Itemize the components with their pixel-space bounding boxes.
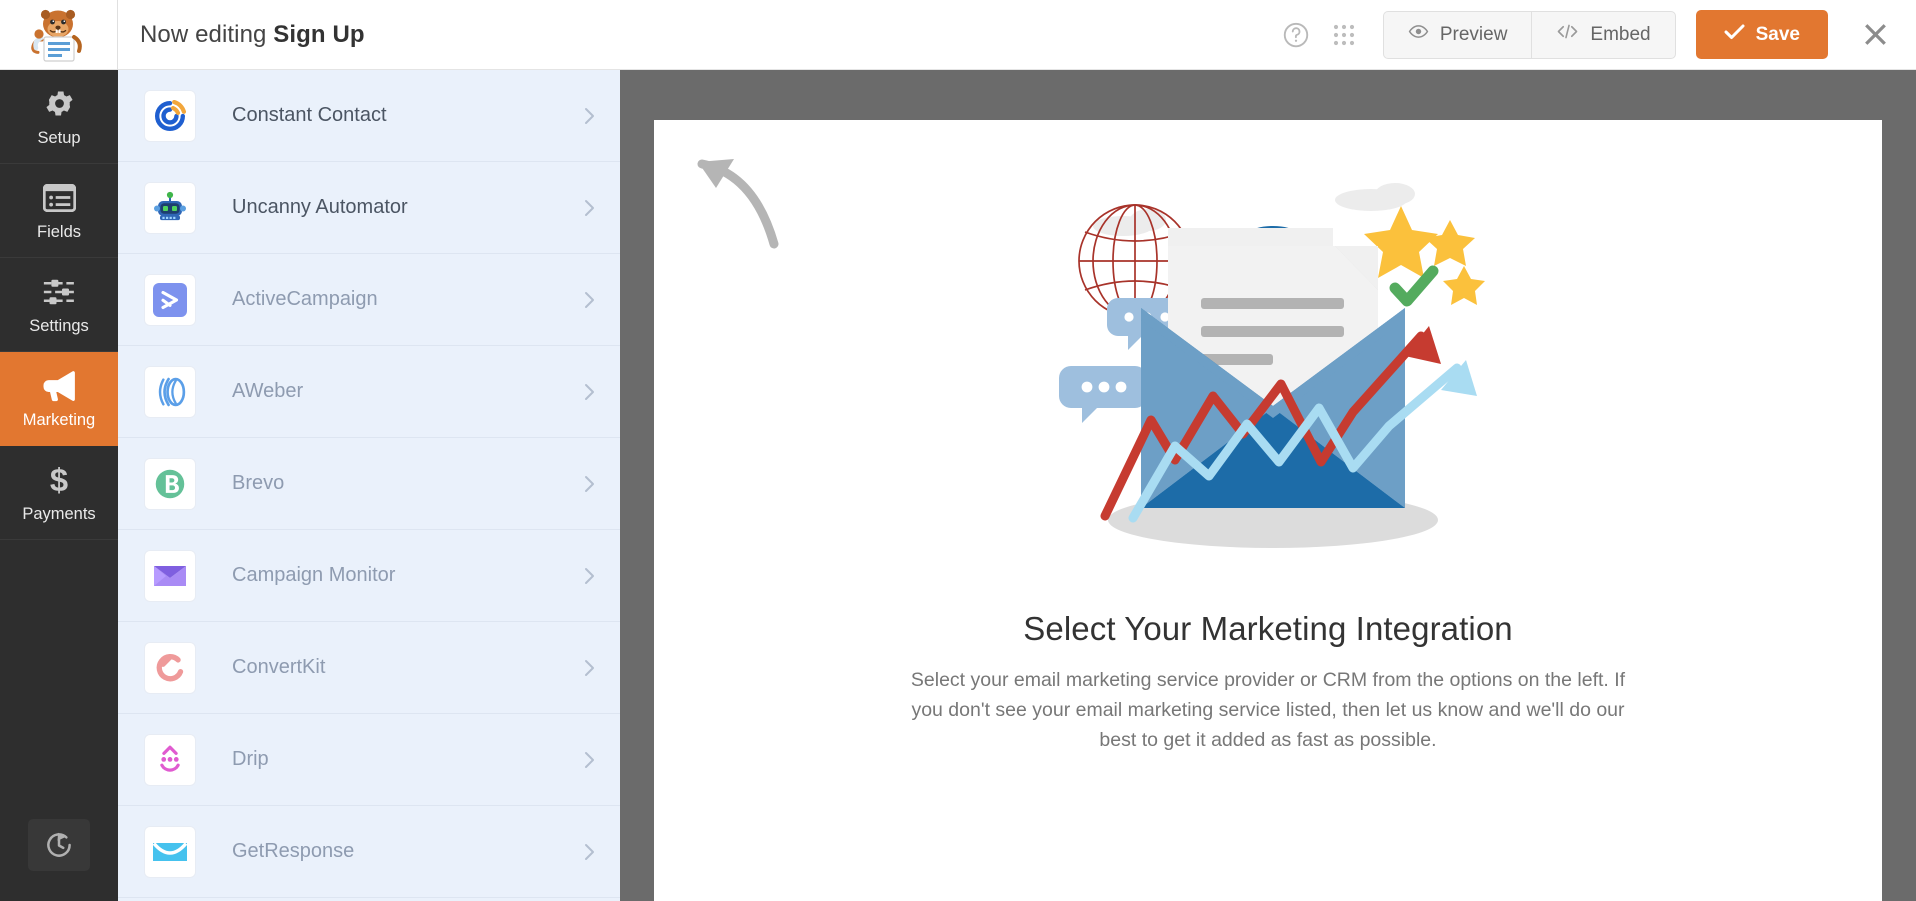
provider-row-getresponse[interactable]: GetResponse — [118, 806, 620, 898]
chevron-right-icon — [583, 382, 596, 402]
uncanny-automator-logo — [144, 182, 196, 234]
wpforms-logo — [0, 0, 118, 70]
sidebar-item-setup[interactable]: Setup — [0, 70, 118, 164]
revisions-button[interactable] — [28, 819, 90, 871]
save-button-label: Save — [1756, 24, 1800, 46]
card-title: Select Your Marketing Integration — [654, 610, 1882, 648]
provider-name: ActiveCampaign — [232, 288, 378, 311]
check-icon — [1724, 23, 1745, 46]
megaphone-icon — [41, 368, 78, 404]
provider-name: Constant Contact — [232, 104, 387, 127]
sliders-icon — [42, 274, 77, 310]
revision-history-icon — [44, 830, 74, 860]
aweber-logo — [144, 366, 196, 418]
provider-row-brevo[interactable]: Brevo — [118, 438, 620, 530]
sidebar-item-payments[interactable]: $ Payments — [0, 446, 118, 540]
chevron-right-icon — [583, 750, 596, 770]
sidebar-item-settings-label: Settings — [29, 317, 89, 336]
code-brackets-icon — [1556, 22, 1579, 47]
save-button[interactable]: Save — [1696, 10, 1828, 59]
chevron-right-icon — [583, 474, 596, 494]
sidebar-item-marketing[interactable]: Marketing — [0, 352, 118, 446]
provider-row-drip[interactable]: Drip — [118, 714, 620, 806]
provider-name: Brevo — [232, 472, 284, 495]
embed-button[interactable]: Embed — [1531, 11, 1675, 59]
preview-button[interactable]: Preview — [1383, 11, 1532, 59]
eye-icon — [1408, 21, 1429, 48]
dollar-icon: $ — [47, 462, 71, 498]
preview-embed-group: Preview Embed — [1383, 11, 1676, 59]
curved-arrow-left-icon — [676, 140, 796, 255]
provider-row-convertkit[interactable]: ConvertKit — [118, 622, 620, 714]
provider-row-campaign-monitor[interactable]: Campaign Monitor — [118, 530, 620, 622]
provider-row-constant-contact[interactable]: Constant Contact — [118, 70, 620, 162]
chevron-right-icon — [583, 290, 596, 310]
sidebar-item-setup-label: Setup — [37, 129, 80, 148]
question-circle-icon[interactable] — [1281, 20, 1311, 50]
provider-name: Drip — [232, 748, 269, 771]
chevron-right-icon — [583, 658, 596, 678]
sidebar-item-payments-label: Payments — [22, 505, 95, 524]
close-builder-button[interactable] — [1834, 0, 1916, 70]
convertkit-logo — [144, 642, 196, 694]
provider-name: AWeber — [232, 380, 303, 403]
drip-logo — [144, 734, 196, 786]
getresponse-logo — [144, 826, 196, 878]
embed-button-label: Embed — [1590, 24, 1650, 46]
marketing-providers-list[interactable]: Constant Contact — [118, 70, 620, 901]
marketing-intro-card: Select Your Marketing Integration Select… — [654, 120, 1882, 901]
builder-sidebar: Setup Fields — [0, 70, 118, 901]
brevo-logo — [144, 458, 196, 510]
sidebar-item-fields[interactable]: Fields — [0, 164, 118, 258]
builder-stage: Select Your Marketing Integration Select… — [620, 70, 1916, 901]
chevron-right-icon — [583, 198, 596, 218]
app-header: Now editing Sign Up — [0, 0, 1916, 70]
sidebar-item-marketing-label: Marketing — [23, 411, 95, 430]
page-title: Now editing Sign Up — [140, 21, 365, 49]
provider-name: Uncanny Automator — [232, 196, 408, 219]
list-icon — [43, 180, 76, 216]
sidebar-spacer — [0, 540, 118, 819]
sidebar-item-fields-label: Fields — [37, 223, 81, 242]
chevron-right-icon — [583, 842, 596, 862]
email-marketing-illustration — [1023, 168, 1513, 568]
provider-name: Campaign Monitor — [232, 564, 395, 587]
form-builder: Now editing Sign Up — [0, 0, 1916, 901]
card-description: Select your email marketing service prov… — [898, 665, 1638, 756]
provider-name: GetResponse — [232, 840, 354, 863]
provider-row-aweber[interactable]: AWeber — [118, 346, 620, 438]
header-actions: Preview Embed — [1281, 0, 1916, 70]
chevron-right-icon — [583, 566, 596, 586]
provider-row-activecampaign[interactable]: ActiveCampaign — [118, 254, 620, 346]
gear-icon — [43, 86, 76, 122]
wpforms-beaver-logo — [28, 7, 90, 63]
preview-button-label: Preview — [1440, 24, 1508, 46]
grid-apps-icon[interactable] — [1331, 22, 1357, 48]
svg-text:$: $ — [50, 463, 68, 497]
sidebar-item-settings[interactable]: Settings — [0, 258, 118, 352]
constant-contact-logo — [144, 90, 196, 142]
close-x-icon — [1861, 20, 1890, 49]
provider-name: ConvertKit — [232, 656, 325, 679]
page-title-form-name: Sign Up — [273, 21, 364, 48]
chevron-right-icon — [583, 106, 596, 126]
activecampaign-logo — [144, 274, 196, 326]
provider-row-uncanny-automator[interactable]: Uncanny Automator — [118, 162, 620, 254]
page-title-prefix: Now editing — [140, 21, 273, 48]
campaign-monitor-logo — [144, 550, 196, 602]
